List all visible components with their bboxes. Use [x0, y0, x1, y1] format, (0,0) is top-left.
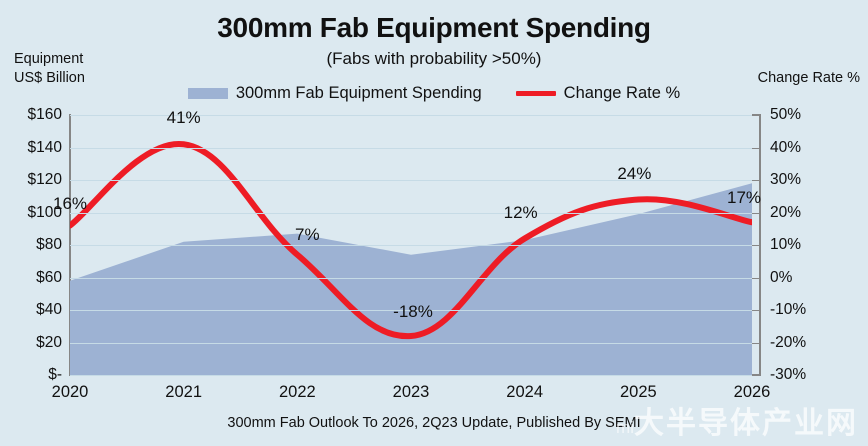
right-axis-tick-label: -10%: [770, 301, 806, 319]
left-axis-tick-label: $160: [28, 106, 62, 124]
chart-container: 300mm Fab Equipment Spending (Fabs with …: [0, 0, 868, 446]
data-label: 7%: [295, 225, 320, 245]
right-axis-tick-label: 50%: [770, 106, 801, 124]
gridline: [70, 375, 752, 376]
right-axis-tick-label: -30%: [770, 366, 806, 384]
axis-tick: [752, 115, 761, 116]
gridline: [70, 245, 752, 246]
data-label: 17%: [727, 188, 761, 208]
right-axis-tick-label: 0%: [770, 269, 792, 287]
gridline: [70, 278, 752, 279]
axis-tick: [752, 375, 761, 376]
left-axis-tick-label: $-: [48, 366, 62, 384]
legend-item-line[interactable]: Change Rate %: [516, 84, 681, 103]
axis-tick: [752, 343, 761, 344]
left-axis-tick-label: $60: [36, 269, 62, 287]
chart-title: 300mm Fab Equipment Spending: [0, 12, 868, 44]
left-axis-tick-label: $120: [28, 171, 62, 189]
gridline: [70, 343, 752, 344]
axis-tick: [752, 180, 761, 181]
source-caption: 300mm Fab Outlook To 2026, 2Q23 Update, …: [0, 415, 868, 431]
axis-tick: [752, 213, 761, 214]
axis-tick: [752, 310, 761, 311]
chart-legend: 300mm Fab Equipment Spending Change Rate…: [0, 84, 868, 103]
right-axis-tick-label: 40%: [770, 139, 801, 157]
left-axis-tick-label: $80: [36, 236, 62, 254]
legend-item-area[interactable]: 300mm Fab Equipment Spending: [188, 84, 482, 103]
axis-tick: [752, 148, 761, 149]
chart-subtitle: (Fabs with probability >50%): [0, 49, 868, 69]
right-axis-tick-label: -20%: [770, 334, 806, 352]
axis-tick: [752, 245, 761, 246]
x-axis-tick-label: 2020: [52, 383, 89, 402]
plot-area: [70, 115, 752, 375]
right-axis-tick-label: 30%: [770, 171, 801, 189]
x-axis-tick-label: 2023: [393, 383, 430, 402]
left-axis-title-line1: Equipment: [14, 50, 85, 69]
legend-label-area: 300mm Fab Equipment Spending: [236, 84, 482, 103]
data-label: 12%: [504, 203, 538, 223]
left-axis-title: Equipment US$ Billion: [14, 50, 85, 88]
x-axis-tick-label: 2026: [734, 383, 771, 402]
gridline: [70, 148, 752, 149]
x-axis-tick-label: 2021: [165, 383, 202, 402]
x-axis-tick-label: 2025: [620, 383, 657, 402]
left-axis-tick-label: $40: [36, 301, 62, 319]
right-axis-tick-label: 20%: [770, 204, 801, 222]
data-label: 16%: [53, 194, 87, 214]
axis-tick: [752, 278, 761, 279]
x-axis-tick-label: 2022: [279, 383, 316, 402]
data-label: 41%: [167, 108, 201, 128]
x-axis-tick-label: 2024: [506, 383, 543, 402]
area-swatch-icon: [188, 88, 228, 99]
data-label: 24%: [617, 164, 651, 184]
left-axis-tick-label: $140: [28, 139, 62, 157]
legend-label-line: Change Rate %: [564, 84, 681, 103]
left-axis-tick-label: $20: [36, 334, 62, 352]
gridline: [70, 213, 752, 214]
line-swatch-icon: [516, 91, 556, 96]
data-label: -18%: [393, 302, 433, 322]
right-axis-tick-label: 10%: [770, 236, 801, 254]
